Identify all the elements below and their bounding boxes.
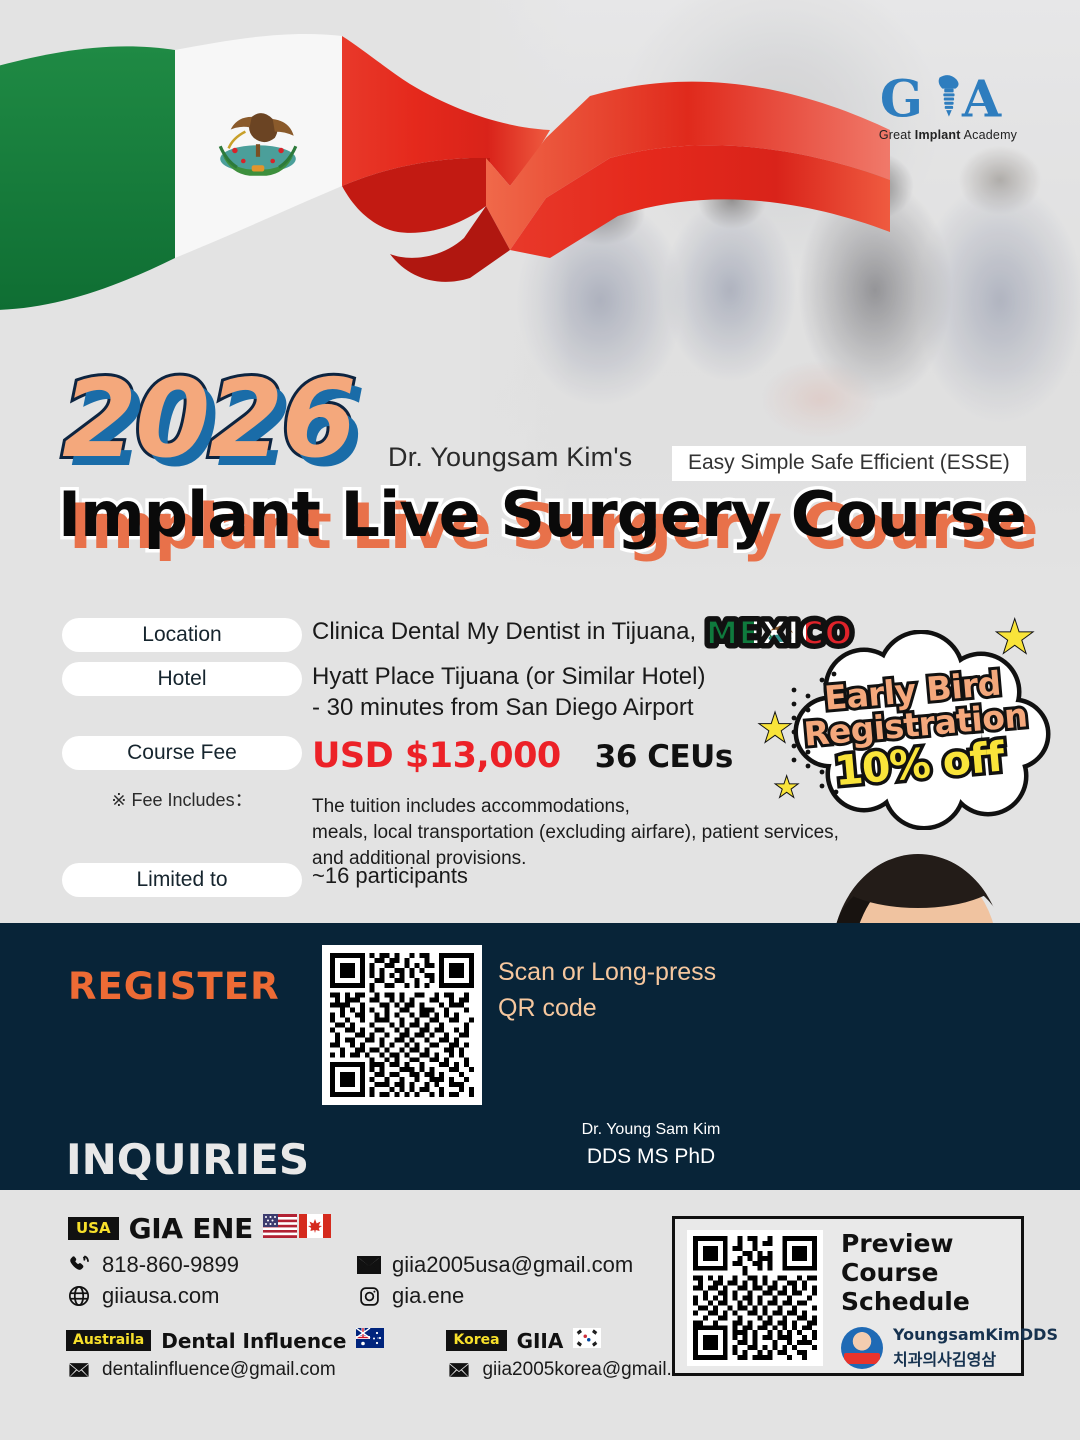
doctor-name: Dr. Young Sam Kim [561,1121,741,1139]
value-limited-to: ~16 participants [312,863,468,889]
instagram-handle: gia.ene [392,1283,464,1309]
preview-title-line1: Preview [841,1229,970,1258]
year-heading: 2026 [62,366,355,474]
kr-flag-icon [573,1328,601,1353]
phone-number: 818-860-9899 [102,1252,239,1278]
value-fee-includes: The tuition includes accommodations, mea… [312,794,839,873]
korea-org-name: GIIA [517,1329,564,1353]
usa-org-name: GIA ENE [129,1212,253,1245]
australia-head: Austraila Dental Influence [66,1328,384,1353]
gia-mark-icon: G A [878,70,1018,126]
byline: Dr. Youngsam Kim's [388,442,632,473]
channel-name-kr: 치과의사김영삼 [893,1346,1058,1370]
instagram-item[interactable]: gia.ene [356,1283,464,1309]
preview-title-line3: Schedule [841,1287,970,1316]
avatar [841,1327,883,1369]
mexico-flag-ribbon-icon [0,10,890,340]
email-address: giia2005usa@gmail.com [392,1252,633,1278]
channel-name-en: YoungsamKimDDS [893,1325,1058,1344]
usa-contact-grid: 818-860-9899 giia2005usa@gmail.com giiau… [66,1252,633,1314]
contact-row-1: 818-860-9899 giia2005usa@gmail.com [66,1252,633,1278]
register-heading: REGISTER [68,965,280,1008]
value-hotel-line1: Hyatt Place Tijuana (or Similar Hotel) [312,662,705,693]
register-section: REGISTER [0,923,1080,1190]
label-location: Location [62,618,302,652]
us-flag-icon [263,1214,297,1243]
star-icon-2: ★ [758,706,792,751]
gia-subtitle: Great Implant Academy [878,128,1018,142]
svg-text:G: G [880,70,923,126]
mail-icon [446,1362,472,1378]
korea-block: Korea GIIA [446,1328,707,1381]
australia-block: Austraila Dental Influence [66,1328,384,1381]
usa-tag: USA [68,1217,119,1240]
svg-text:A: A [961,70,1002,126]
label-limited-to: Limited to [62,863,302,897]
scan-line1: Scan or Long-press [498,955,716,991]
usa-org-row: USA GIA ENE [68,1212,331,1245]
label-course-fee: Course Fee [62,736,302,770]
register-qr-code[interactable] [322,945,482,1105]
preview-title: Preview Course Schedule [841,1229,970,1316]
australia-org-name: Dental Influence [161,1329,346,1353]
mail-icon [356,1256,382,1274]
korea-tag: Korea [446,1330,506,1351]
doctor-degrees: DDS MS PhD [561,1145,741,1169]
contact-row-2: giiausa.com gia.ene [66,1283,633,1309]
fee-price: USD $13,000 [312,736,561,776]
preview-title-line2: Course [841,1258,970,1287]
regional-orgs: Austraila Dental Influence [66,1328,708,1381]
email-item[interactable]: giia2005usa@gmail.com [356,1252,633,1278]
qr-code-icon [330,953,474,1097]
value-course-fee: USD $13,000 36 CEUs [312,736,733,776]
australia-email-item[interactable]: dentalinfluence@gmail.com [66,1359,384,1381]
label-hotel: Hotel [62,662,302,696]
value-location: Clinica Dental My Dentist in Tijuana, [312,618,696,646]
esse-badge: Easy Simple Safe Efficient (ESSE) [672,446,1026,481]
korea-head: Korea GIIA [446,1328,707,1353]
au-flag-icon [356,1328,384,1353]
preview-qr-code[interactable] [687,1230,823,1366]
inquiries-heading: INQUIRIES [66,1135,309,1184]
globe-icon [66,1285,92,1307]
scan-line2: QR code [498,991,716,1027]
korea-email-item[interactable]: giia2005korea@gmail.com [446,1359,707,1381]
label-fee-includes: ※ Fee Includes： [62,786,302,812]
poster-root: G A Great Implant Academy 2026 Dr. Young… [0,0,1080,1440]
value-hotel: Hyatt Place Tijuana (or Similar Hotel) -… [312,662,705,723]
preview-channel: YoungsamKimDDS 치과의사김영삼 [841,1325,1058,1370]
website-url: giiausa.com [102,1283,219,1309]
gia-logo: G A Great Implant Academy [878,70,1018,142]
hero-section: G A Great Implant Academy 2026 Dr. Young… [0,0,1080,600]
star-icon-1: ★ [995,612,1034,663]
fee-includes-line2: meals, local transportation (excluding a… [312,820,839,846]
scan-instructions: Scan or Long-press QR code [498,955,716,1026]
ca-flag-icon [299,1214,331,1243]
page-title: Implant Live Surgery Course [58,484,1026,546]
mail-icon [66,1362,92,1378]
australia-tag: Austraila [66,1330,151,1351]
preview-channel-names: YoungsamKimDDS 치과의사김영삼 [893,1325,1058,1370]
fee-includes-line1: The tuition includes accommodations, [312,794,839,820]
instagram-icon [356,1286,382,1307]
website-item[interactable]: giiausa.com [66,1283,356,1309]
value-hotel-line2: - 30 minutes from San Diego Airport [312,693,705,724]
phone-item[interactable]: 818-860-9899 [66,1252,356,1278]
star-icon-3: ★ [775,772,798,803]
australia-email: dentalinfluence@gmail.com [102,1359,336,1381]
fee-ceus: 36 CEUs [595,739,733,775]
phone-icon [66,1254,92,1276]
qr-code-icon [693,1236,817,1360]
preview-course-schedule-box[interactable]: Preview Course Schedule YoungsamKimDDS 치… [672,1216,1024,1376]
